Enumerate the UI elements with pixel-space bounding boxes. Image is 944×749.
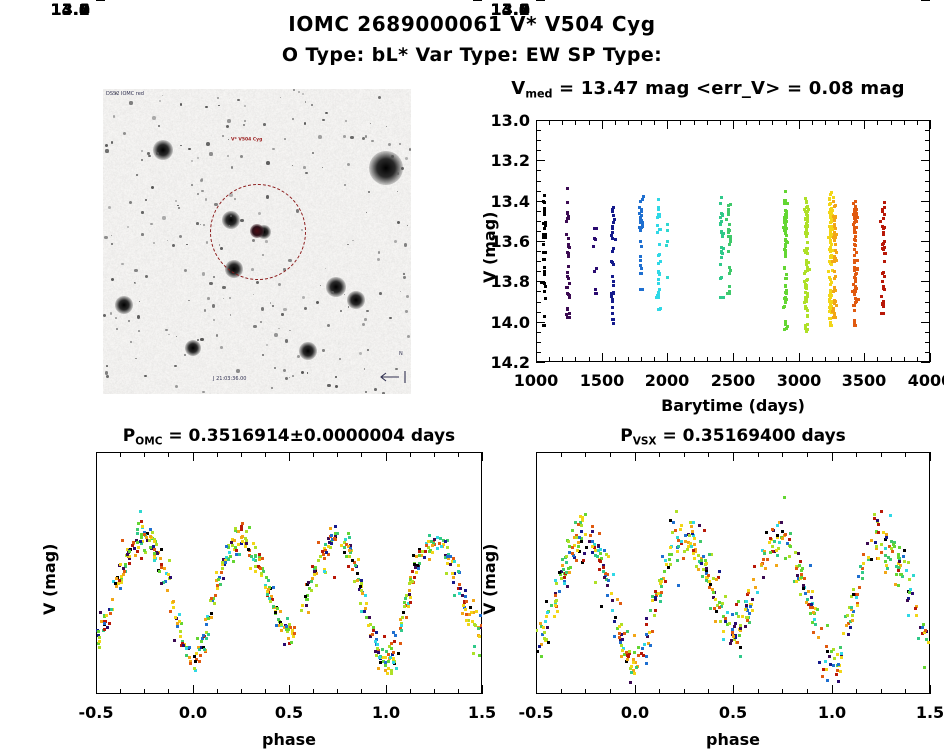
data-point	[923, 666, 926, 669]
data-point	[628, 650, 631, 653]
phase-points-layer	[536, 452, 930, 694]
data-point	[602, 566, 605, 569]
data-point	[714, 598, 717, 601]
data-point	[707, 574, 710, 577]
data-point	[554, 600, 557, 603]
data-point	[751, 598, 754, 601]
data-point	[867, 556, 870, 559]
data-point	[833, 657, 836, 660]
data-point	[598, 532, 601, 535]
data-point	[699, 540, 702, 543]
data-point	[852, 593, 855, 596]
data-point	[580, 540, 583, 543]
data-point	[640, 652, 643, 655]
data-point	[649, 609, 652, 612]
data-point	[693, 557, 696, 560]
data-point	[676, 550, 679, 553]
data-point	[686, 548, 689, 551]
data-point	[900, 573, 903, 576]
data-point	[698, 524, 701, 527]
data-point	[676, 536, 679, 539]
data-point	[675, 510, 678, 513]
data-point	[621, 638, 624, 641]
data-point	[589, 534, 592, 537]
data-point	[744, 625, 747, 628]
data-point	[818, 661, 821, 664]
data-point	[659, 594, 662, 597]
data-point	[816, 608, 819, 611]
data-point	[539, 622, 542, 625]
data-point	[683, 550, 686, 553]
data-point	[825, 645, 828, 648]
data-point	[597, 544, 600, 547]
data-point	[594, 554, 597, 557]
data-point	[847, 633, 850, 636]
data-point	[573, 556, 576, 559]
data-point	[536, 629, 538, 632]
data-point	[558, 571, 561, 574]
data-point	[805, 601, 808, 604]
data-point	[719, 620, 722, 623]
data-point	[889, 558, 892, 561]
data-point	[906, 599, 909, 602]
data-point	[689, 521, 692, 524]
data-point	[591, 540, 594, 543]
data-point	[668, 558, 671, 561]
data-point	[912, 574, 915, 577]
data-point	[751, 609, 754, 612]
data-point	[614, 616, 617, 619]
data-point	[903, 549, 906, 552]
data-point	[877, 557, 880, 560]
data-point	[554, 594, 557, 597]
data-point	[623, 632, 626, 635]
data-point	[575, 559, 578, 562]
data-point	[626, 630, 629, 633]
vsx-title-value: = 0.35169400 days	[657, 426, 846, 446]
data-point	[563, 576, 566, 579]
data-point	[674, 529, 677, 532]
data-point	[820, 627, 823, 630]
data-point	[693, 537, 696, 540]
data-point	[856, 593, 859, 596]
y-tick-label: 14.2	[474, 0, 530, 19]
data-point	[753, 565, 756, 568]
data-point	[603, 576, 606, 579]
data-point	[732, 635, 735, 638]
data-point	[705, 562, 708, 565]
data-point	[536, 650, 539, 653]
data-point	[739, 627, 742, 630]
data-point	[905, 569, 908, 572]
data-point	[795, 580, 798, 583]
data-point	[651, 599, 654, 602]
data-point	[632, 661, 635, 664]
data-point	[783, 496, 786, 499]
data-point	[754, 586, 757, 589]
data-point	[663, 570, 666, 573]
data-point	[890, 547, 893, 550]
data-point	[713, 607, 716, 610]
data-point	[545, 600, 548, 603]
data-point	[571, 529, 574, 532]
data-point	[895, 573, 898, 576]
data-point	[762, 558, 765, 561]
data-point	[729, 642, 732, 645]
data-point	[611, 599, 614, 602]
data-point	[629, 681, 632, 684]
data-point	[861, 577, 864, 580]
vsx-title-subscript: VSX	[633, 435, 657, 447]
data-point	[616, 598, 619, 601]
data-point	[687, 545, 690, 548]
data-point	[542, 626, 545, 629]
data-point	[635, 666, 638, 669]
data-point	[813, 618, 816, 621]
data-point	[788, 555, 791, 558]
data-point	[839, 670, 842, 673]
data-point	[812, 631, 815, 634]
data-point	[584, 513, 587, 516]
data-point	[877, 531, 880, 534]
data-point	[828, 655, 831, 658]
data-point	[715, 610, 718, 613]
data-point	[776, 554, 779, 557]
data-point	[889, 514, 892, 517]
data-point	[637, 654, 640, 657]
data-point	[603, 549, 606, 552]
data-point	[886, 567, 889, 570]
data-point	[660, 591, 663, 594]
data-point	[801, 567, 804, 570]
axis-tick	[921, 0, 930, 1]
data-point	[907, 561, 910, 564]
x-tick-label: -0.5	[519, 703, 554, 722]
data-point	[817, 636, 820, 639]
data-point	[680, 540, 683, 543]
data-point	[739, 646, 742, 649]
data-point	[724, 617, 727, 620]
data-point	[885, 564, 888, 567]
data-point	[722, 638, 725, 641]
data-point	[645, 617, 648, 620]
data-point	[571, 546, 574, 549]
data-point	[555, 582, 558, 585]
data-point	[613, 620, 616, 623]
data-point	[577, 523, 580, 526]
data-point	[784, 533, 787, 536]
data-point	[553, 615, 556, 618]
data-point	[877, 523, 880, 526]
data-point	[726, 611, 729, 614]
data-point	[781, 537, 784, 540]
data-point	[621, 649, 624, 652]
data-point	[898, 546, 901, 549]
data-point	[604, 572, 607, 575]
data-point	[565, 561, 568, 564]
data-point	[689, 542, 692, 545]
data-point	[840, 656, 843, 659]
data-point	[736, 641, 739, 644]
data-point	[737, 615, 740, 618]
data-point	[748, 612, 751, 615]
data-point	[697, 554, 700, 557]
data-point	[703, 529, 706, 532]
data-point	[676, 559, 679, 562]
data-point	[885, 536, 888, 539]
data-point	[544, 638, 547, 641]
data-point	[598, 559, 601, 562]
data-point	[845, 624, 848, 627]
data-point	[756, 591, 759, 594]
data-point	[577, 545, 580, 548]
data-point	[861, 571, 864, 574]
data-point	[688, 534, 691, 537]
x-tick-label: 0.5	[719, 703, 747, 722]
data-point	[897, 566, 900, 569]
data-point	[540, 655, 543, 658]
data-point	[543, 631, 546, 634]
data-point	[565, 571, 568, 574]
data-point	[897, 553, 900, 556]
data-point	[661, 555, 664, 558]
data-point	[645, 662, 648, 665]
data-point	[760, 563, 763, 566]
data-point	[884, 554, 887, 557]
data-point	[626, 658, 629, 661]
data-point	[873, 513, 876, 516]
data-point	[739, 655, 742, 658]
data-point	[677, 545, 680, 548]
data-point	[667, 566, 670, 569]
data-point	[602, 570, 605, 573]
data-point	[582, 559, 585, 562]
data-point	[862, 553, 865, 556]
data-point	[679, 528, 682, 531]
data-point	[768, 541, 771, 544]
data-point	[701, 575, 704, 578]
data-point	[630, 665, 633, 668]
data-point	[682, 557, 685, 560]
data-point	[664, 580, 667, 583]
data-point	[591, 530, 594, 533]
data-point	[728, 622, 731, 625]
data-point	[711, 588, 714, 591]
data-point	[789, 545, 792, 548]
data-point	[776, 524, 779, 527]
data-point	[884, 547, 887, 550]
data-point	[715, 578, 718, 581]
data-point	[784, 557, 787, 560]
data-point	[850, 606, 853, 609]
data-point	[735, 612, 738, 615]
data-point	[610, 592, 613, 595]
data-point	[908, 591, 911, 594]
data-point	[611, 609, 614, 612]
x-tick-label: 1.5	[916, 703, 944, 722]
data-point	[812, 611, 815, 614]
data-point	[547, 641, 550, 644]
data-point	[855, 596, 858, 599]
data-point	[829, 663, 832, 666]
vsx-title-prefix: P	[620, 426, 632, 446]
data-point	[922, 623, 925, 626]
data-point	[672, 521, 675, 524]
data-point	[897, 556, 900, 559]
data-point	[708, 553, 711, 556]
data-point	[649, 644, 652, 647]
data-point	[680, 524, 683, 527]
data-point	[884, 560, 887, 563]
data-point	[580, 530, 583, 533]
data-point	[807, 590, 810, 593]
data-point	[882, 531, 885, 534]
data-point	[874, 541, 877, 544]
data-point	[641, 647, 644, 650]
data-point	[599, 552, 602, 555]
data-point	[809, 564, 812, 567]
data-point	[735, 603, 738, 606]
data-point	[690, 525, 693, 528]
data-point	[859, 565, 862, 568]
data-point	[796, 574, 799, 577]
data-point	[718, 606, 721, 609]
data-point	[839, 646, 842, 649]
data-point	[568, 551, 571, 554]
data-point	[741, 615, 744, 618]
data-point	[733, 625, 736, 628]
data-point	[880, 510, 883, 513]
data-point	[769, 551, 772, 554]
data-point	[738, 634, 741, 637]
data-point	[891, 550, 894, 553]
data-point	[837, 680, 840, 683]
data-point	[856, 604, 859, 607]
data-point	[721, 602, 724, 605]
data-point	[814, 623, 817, 626]
data-point	[718, 570, 721, 573]
data-point	[709, 607, 712, 610]
data-point	[857, 575, 860, 578]
data-point	[802, 587, 805, 590]
data-point	[578, 536, 581, 539]
data-point	[902, 555, 905, 558]
data-point	[858, 586, 861, 589]
data-point	[752, 578, 755, 581]
data-point	[561, 564, 564, 567]
data-point	[851, 614, 854, 617]
data-point	[837, 663, 840, 666]
data-point	[546, 626, 549, 629]
data-point	[558, 590, 561, 593]
data-point	[606, 584, 609, 587]
data-point	[566, 585, 569, 588]
data-point	[794, 551, 797, 554]
data-point	[561, 558, 564, 561]
x-tick-label: 1.0	[818, 703, 846, 722]
data-point	[811, 590, 814, 593]
data-point	[884, 571, 887, 574]
data-point	[576, 549, 579, 552]
data-point	[567, 540, 570, 543]
data-point	[660, 580, 663, 583]
data-point	[651, 630, 654, 633]
data-point	[693, 543, 696, 546]
data-point	[583, 552, 586, 555]
data-point	[789, 532, 792, 535]
data-point	[809, 606, 812, 609]
vsx-title: PVSX = 0.35169400 days	[536, 426, 930, 447]
data-point	[775, 549, 778, 552]
data-point	[654, 609, 657, 612]
data-point	[840, 652, 843, 655]
data-point	[924, 629, 927, 632]
axis-tick	[536, 0, 545, 1]
data-point	[746, 619, 749, 622]
data-point	[821, 675, 824, 678]
data-point	[917, 637, 920, 640]
data-point	[897, 584, 900, 587]
data-point	[607, 579, 610, 582]
data-point	[585, 546, 588, 549]
data-point	[799, 593, 802, 596]
data-point	[594, 581, 597, 584]
data-point	[731, 613, 734, 616]
data-point	[581, 516, 584, 519]
data-point	[803, 577, 806, 580]
data-point	[669, 546, 672, 549]
data-point	[852, 588, 855, 591]
data-point	[825, 668, 828, 671]
data-point	[849, 626, 852, 629]
data-point	[927, 641, 930, 644]
data-point	[771, 545, 774, 548]
data-point	[795, 567, 798, 570]
data-point	[645, 633, 648, 636]
data-point	[763, 552, 766, 555]
data-point	[799, 560, 802, 563]
data-point	[749, 605, 752, 608]
data-point	[554, 604, 557, 607]
data-point	[550, 604, 553, 607]
data-point	[769, 537, 772, 540]
data-point	[766, 558, 769, 561]
data-point	[775, 564, 778, 567]
data-point	[580, 524, 583, 527]
data-point	[654, 596, 657, 599]
data-point	[822, 668, 825, 671]
data-point	[660, 585, 663, 588]
data-point	[677, 584, 680, 587]
data-point	[620, 644, 623, 647]
data-point	[835, 673, 838, 676]
data-point	[880, 551, 883, 554]
data-point	[824, 660, 827, 663]
data-point	[826, 679, 829, 682]
data-point	[545, 615, 548, 618]
data-point	[591, 545, 594, 548]
data-point	[571, 552, 574, 555]
data-point	[876, 519, 879, 522]
data-point	[744, 608, 747, 611]
data-point	[788, 538, 791, 541]
data-point	[556, 610, 559, 613]
panel-phase-vsx: PVSX = 0.35169400 days phase V (mag) -0.…	[0, 0, 944, 747]
data-point	[830, 650, 833, 653]
data-point	[568, 571, 571, 574]
data-point	[691, 530, 694, 533]
axis-tick	[930, 685, 931, 694]
